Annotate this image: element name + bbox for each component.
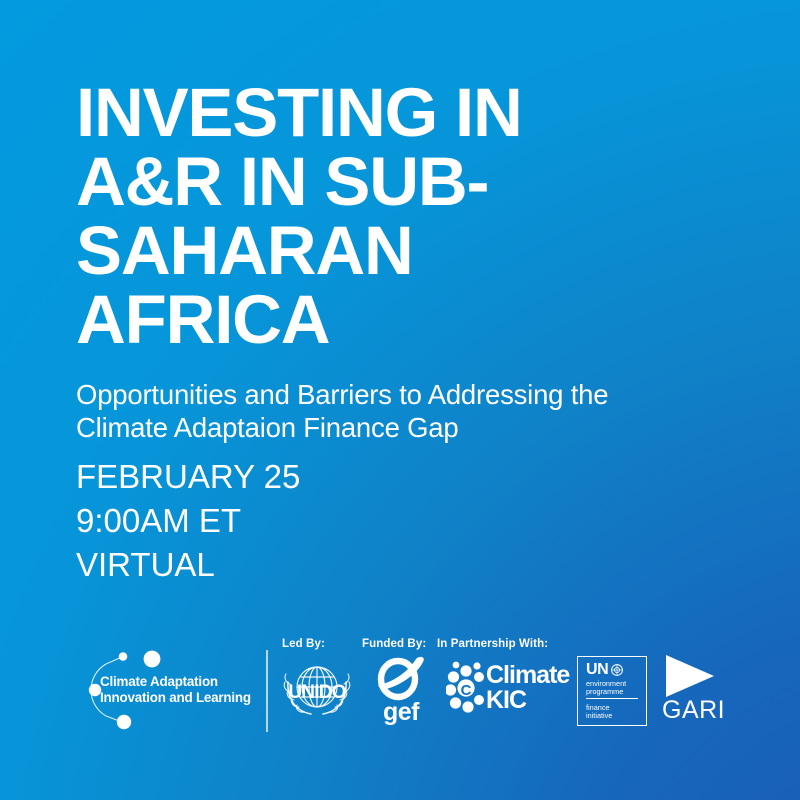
cail-line-1: Climate Adaptation: [100, 674, 218, 689]
subtitle-line-2: Climate Adaptaion Finance Gap: [76, 411, 740, 444]
unido-wordmark: UNIDO: [288, 682, 345, 703]
logo-divider: [266, 650, 268, 732]
climate-adaptation-innovation-learning-logo: Climate Adaptation Innovation and Learni…: [76, 650, 254, 730]
event-details: FEBRUARY 25 9:00AM ET VIRTUAL: [76, 455, 300, 587]
gef-logo: gef: [368, 656, 434, 726]
unep-subtitle: environment programme: [586, 680, 626, 697]
title-line-4: AFRICA: [76, 285, 740, 354]
event-date: FEBRUARY 25: [76, 455, 300, 499]
title-line-3: SAHARAN: [76, 216, 740, 285]
title-line-2: A&R IN SUB-: [76, 147, 740, 216]
label-funded-by: Funded By:: [362, 638, 426, 650]
un-emblem-icon: [611, 664, 623, 676]
event-poster: INVESTING IN A&R IN SUB- SAHARAN AFRICA …: [0, 0, 800, 800]
cail-wordmark: Climate Adaptation Innovation and Learni…: [100, 674, 251, 705]
gari-logo: GARI: [662, 654, 734, 728]
event-time: 9:00AM ET: [76, 499, 300, 543]
page-subtitle: Opportunities and Barriers to Addressing…: [76, 378, 740, 444]
gef-orbit-icon: gef: [368, 656, 434, 726]
title-line-1: INVESTING IN: [76, 78, 740, 147]
un-globe-laurel-icon: UNIDO: [281, 654, 353, 726]
unep-finance-initiative-logo: UN environment programme finance initiat…: [577, 656, 647, 726]
unido-logo: UNIDO: [281, 654, 353, 726]
unep-divider-rule: [586, 698, 638, 699]
climate-kic-c-letter: C: [461, 682, 472, 699]
unep-finance-initiative-text: finance initiative: [586, 704, 612, 721]
unep-sub-line-2: programme: [586, 687, 623, 696]
event-location: VIRTUAL: [76, 543, 300, 587]
climate-kic-circles-icon: C: [446, 660, 486, 716]
unep-fi-line-2: initiative: [586, 711, 612, 720]
page-title: INVESTING IN A&R IN SUB- SAHARAN AFRICA: [76, 78, 740, 354]
gari-wordmark: GARI: [662, 698, 725, 723]
climate-kic-word-bottom: KIC: [486, 686, 526, 715]
unep-un-word: UN: [586, 662, 608, 678]
climate-kic-logo: C Climate KIC: [446, 660, 542, 722]
gef-wordmark: gef: [383, 698, 420, 726]
play-triangle-icon: [662, 654, 718, 698]
unep-un-row: UN: [586, 662, 623, 678]
logo-bar: Climate Adaptation Innovation and Learni…: [0, 628, 800, 748]
label-in-partnership-with: In Partnership With:: [437, 638, 548, 650]
subtitle-line-1: Opportunities and Barriers to Addressing…: [76, 378, 740, 411]
label-led-by: Led By:: [282, 638, 325, 650]
cail-line-2: Innovation and Learning: [100, 690, 251, 705]
